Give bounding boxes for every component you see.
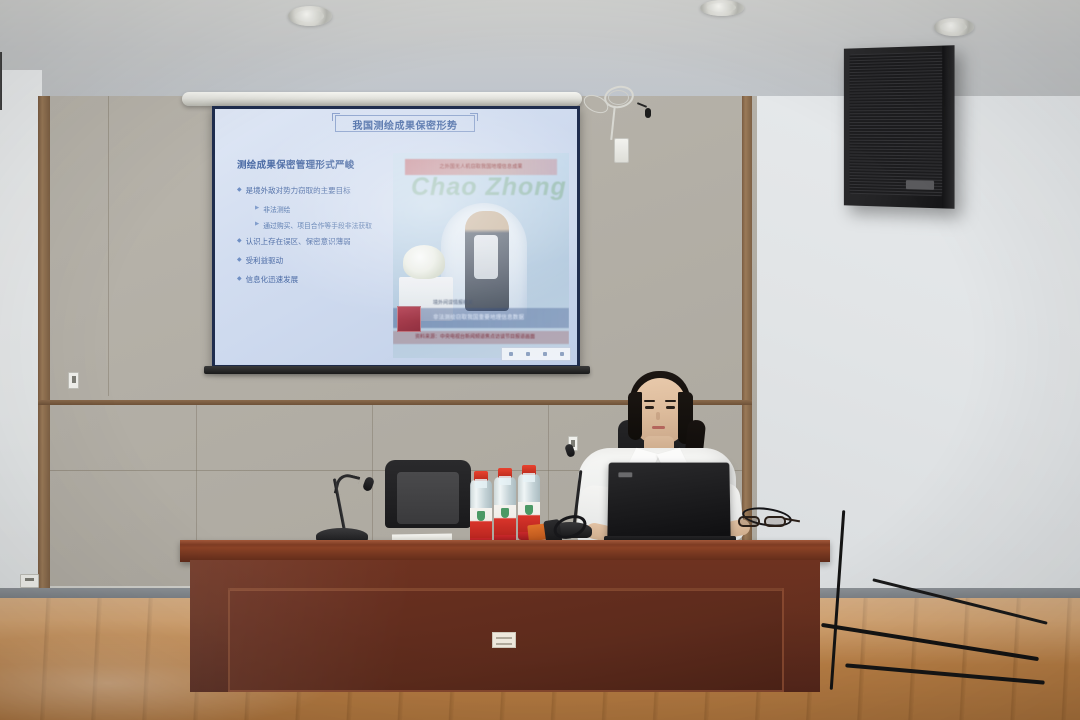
presenter-mouth [652, 426, 665, 429]
glasses-lens-left [738, 516, 760, 527]
slide-subtitle: 测绘成果保密管理形式严峻 [237, 157, 355, 171]
diamond-bullet-icon: ◆ [237, 185, 242, 195]
left-white-wall [0, 70, 42, 630]
bottle-label [494, 505, 516, 535]
slide-toolbar-overlay[interactable] [501, 347, 571, 361]
eyeglasses [738, 516, 796, 528]
toolbar-dot-icon [526, 352, 530, 356]
list-item: ▶ 通过购买、项目合作等手段非法获取 [255, 220, 397, 230]
presenter-eye-left [645, 406, 654, 409]
coiled-cable-inner [608, 90, 629, 105]
wall-trim-vertical [38, 96, 50, 588]
wall-outlet-plate[interactable] [20, 574, 39, 588]
toolbar-dot-icon [560, 352, 564, 356]
list-item: ◆ 信息化迅速发展 [237, 274, 397, 285]
ceiling-downlight-icon [288, 6, 332, 26]
laptop-brand-logo [618, 472, 632, 477]
wall-microphone-icon [645, 108, 651, 118]
bottle-neck [499, 476, 511, 485]
presenter-eye-right [666, 406, 675, 409]
bottle-label-graphic [525, 505, 533, 515]
wall-panel-seam [108, 96, 109, 396]
bullet-text: 信息化迅速发展 [246, 274, 299, 285]
list-item: ◆ 受利益驱动 [237, 255, 397, 266]
bullet-text: 是境外敌对势力窃取的主要目标 [246, 185, 351, 196]
speaker-mount-bracket [0, 52, 2, 110]
bullet-text: 认识上存在误区、保密意识薄弱 [246, 236, 351, 247]
podium-sheen [190, 560, 820, 692]
projector-screen: 我国测绘成果保密形势 测绘成果保密管理形式严峻 ◆ 是境外敌对势力窃取的主要目标… [212, 106, 580, 368]
power-adapter-box [614, 138, 629, 163]
toolbar-dot-icon [543, 352, 547, 356]
presentation-slide: 我国测绘成果保密形势 测绘成果保密管理形式严峻 ◆ 是境外敌对势力窃取的主要目标… [215, 109, 577, 365]
bullet-text: 通过购买、项目合作等手段非法获取 [263, 220, 372, 230]
bottle-neck [523, 473, 535, 482]
news-ticker-bar: 资料来源：中央电视台新闻频道焦点访谈节目报道画面 [393, 331, 569, 344]
podium-top-edge [180, 540, 830, 545]
wall-switch-plate[interactable] [68, 372, 79, 389]
triangle-bullet-icon: ▶ [255, 204, 259, 213]
bullet-text: 受利益驱动 [246, 255, 284, 266]
slide-bullet-list: ◆ 是境外敌对势力窃取的主要目标 ▶ 非法测绘 ▶ 通过购买、项目合作等手段非法… [237, 185, 397, 293]
news-red-logo-box [397, 306, 421, 332]
diamond-bullet-icon: ◆ [237, 255, 242, 265]
bottle-label [470, 508, 492, 538]
diamond-bullet-icon: ◆ [237, 236, 242, 246]
presenter-eyebrow-left [644, 400, 655, 402]
slide-title: 我国测绘成果保密形势 [339, 117, 471, 132]
water-bottle [494, 477, 516, 543]
presenter-eyebrow-right [665, 400, 676, 402]
water-bottle [470, 480, 492, 546]
laptop[interactable] [607, 463, 730, 541]
office-chair-cushion [397, 472, 459, 524]
news-seated-person [465, 211, 509, 311]
glasses-lens-right [764, 516, 786, 527]
list-item: ◆ 认识上存在误区、保密意识薄弱 [237, 236, 397, 247]
bottle-neck [475, 479, 487, 488]
presentation-room-scene: 我国测绘成果保密形势 测绘成果保密管理形式严峻 ◆ 是境外敌对势力窃取的主要目标… [0, 0, 1080, 720]
diamond-bullet-icon: ◆ [237, 274, 242, 284]
bottle-label-graphic [501, 508, 509, 518]
news-flower-arrangement [403, 245, 445, 279]
projector-screen-roller [182, 92, 582, 106]
bottle-label-graphic [477, 511, 485, 521]
news-watermark-text: Chao Zhong [411, 173, 569, 203]
presenter-nose [656, 412, 660, 420]
presenter-hair-left [628, 392, 642, 440]
news-ticker-text: 资料来源：中央电视台新闻频道焦点访谈节目报道画面 [393, 331, 569, 344]
news-caption: 境外间谍情报机关 [433, 299, 473, 306]
wall-speaker [844, 45, 955, 209]
triangle-bullet-icon: ▶ [255, 220, 259, 229]
slide-embedded-news-photo: 之外国无人机窃取我国地理信息成果 Chao Zhong 境外间谍情报机关 非法测… [393, 153, 569, 358]
ceiling-downlight-icon [700, 0, 744, 16]
list-item: ◆ 是境外敌对势力窃取的主要目标 [237, 185, 397, 196]
ceiling-downlight-icon [934, 18, 974, 36]
toolbar-dot-icon [509, 352, 513, 356]
list-item: ▶ 非法测绘 [255, 204, 397, 214]
speaker-side-panel [942, 45, 954, 209]
speaker-brand-badge [906, 180, 934, 190]
bullet-text: 非法测绘 [263, 204, 290, 214]
speaker-grille [850, 52, 943, 196]
projector-screen-weight-bar [204, 366, 590, 374]
